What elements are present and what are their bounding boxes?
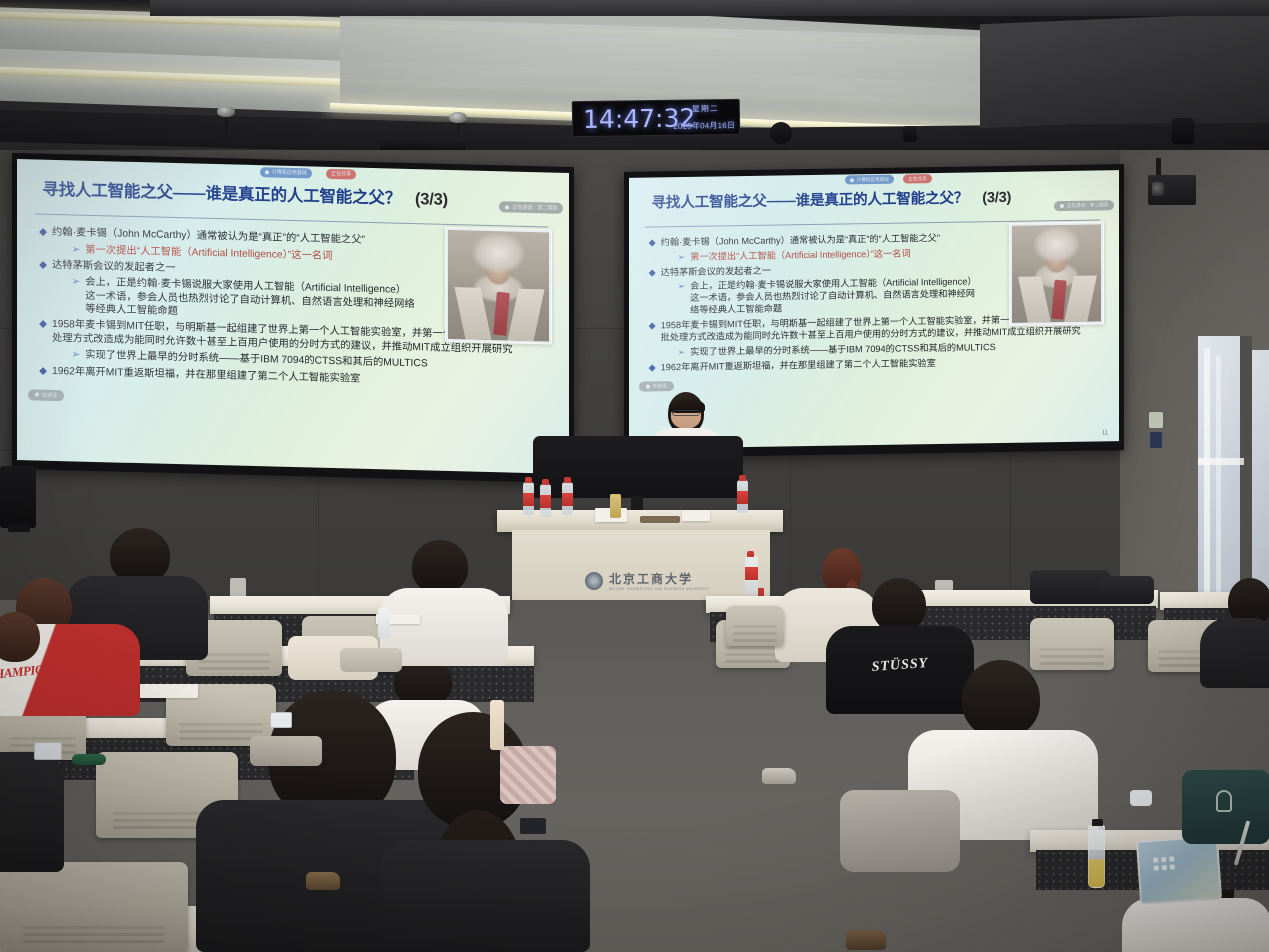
bullet-marker-diamond: ◆ xyxy=(649,321,656,333)
chair[interactable] xyxy=(726,606,784,646)
slide-page-indicator: (3/3) xyxy=(982,190,1011,206)
shoe xyxy=(306,872,340,890)
sharing-badge-label: 正在共享 xyxy=(908,176,926,182)
water-bottle xyxy=(523,482,534,515)
speaking-chip-secondary-label: 在讲话 xyxy=(653,383,667,389)
share-status-chip: 计算机应用基础 xyxy=(260,167,312,178)
list-item: ➢ 会上，正是约翰·麦卡锡说服大家使用人工智能（Artificial Intel… xyxy=(649,277,983,318)
slide-page-number: 11 xyxy=(1102,430,1108,436)
ceiling-projector xyxy=(1148,175,1196,205)
speaking-chip-secondary: 在讲话 xyxy=(28,389,64,401)
pencil-case xyxy=(72,754,106,765)
laptop-bag xyxy=(1100,576,1154,604)
lectern-papers xyxy=(682,510,710,521)
share-chip-label: 计算机应用基础 xyxy=(272,168,307,176)
student-body xyxy=(1122,898,1269,952)
tablet-device[interactable] xyxy=(1136,835,1222,905)
bullet-marker-diamond: ◆ xyxy=(649,267,656,279)
ceiling-sensor xyxy=(903,126,917,142)
slide-title-text: 寻找人工智能之父——谁是真正的人工智能之父？ xyxy=(42,180,401,207)
light-switch[interactable] xyxy=(230,578,246,598)
calculator[interactable] xyxy=(270,712,292,728)
tablet-screen[interactable] xyxy=(1138,837,1220,902)
water-bottle-clear xyxy=(1088,824,1105,888)
clock-date: 2025年04月16日 xyxy=(673,120,735,132)
wall-monitor-stand xyxy=(8,524,30,532)
jacket-brand-text: CHAMPION xyxy=(0,661,53,684)
bullet-marker-diamond: ◆ xyxy=(39,318,47,332)
bullet-marker-diamond: ◆ xyxy=(39,259,47,273)
bullet-marker-diamond: ◆ xyxy=(649,363,656,375)
ceiling-speaker-round xyxy=(770,122,792,144)
earbuds-case xyxy=(1130,790,1152,806)
ceiling-camera xyxy=(1172,118,1194,144)
bullet-text: 会上，正是约翰·麦卡锡说服大家使用人工智能（Artificial Intelli… xyxy=(85,276,415,324)
teal-backpack xyxy=(1182,770,1269,844)
seal-icon xyxy=(585,572,603,590)
bullet-marker-arrow: ➢ xyxy=(677,347,685,359)
share-chip-label: 计算机应用基础 xyxy=(857,177,889,184)
wall-monitor-left xyxy=(0,466,36,528)
student-tshirt: STÜSSY xyxy=(826,626,974,714)
water-bottle-small xyxy=(378,608,390,638)
lecture-hall-photo: 14:47:32 星期二 2025年04月16日 寻找人工智能之父——谁是真正的… xyxy=(0,0,1269,952)
bullet-text: 会上，正是约翰·麦卡锡说服大家使用人工智能（Artificial Intelli… xyxy=(690,277,982,317)
lectern-remote[interactable] xyxy=(640,516,680,523)
speaking-chip-label: 正在讲话：李二明同 xyxy=(512,204,557,212)
student-head xyxy=(412,540,468,594)
sneaker xyxy=(762,768,796,784)
speaking-chip-secondary: 在讲话 xyxy=(639,381,674,392)
bullet-marker-diamond: ◆ xyxy=(649,237,656,249)
water-bottle-aisle xyxy=(745,556,758,594)
student-trousers xyxy=(840,790,960,872)
student-head xyxy=(962,660,1040,738)
bullet-marker-diamond: ◆ xyxy=(39,364,47,378)
lightbulb-icon xyxy=(1216,790,1232,812)
jacket-on-chair xyxy=(250,736,322,766)
slide-title-right: 寻找人工智能之父——谁是真正的人工智能之父？(3/3) xyxy=(652,186,1012,213)
projection-screen-left: 寻找人工智能之父——谁是真正的人工智能之父？(3/3) ◆ 约翰·麦卡锡（Joh… xyxy=(12,153,574,483)
bullet-marker-arrow: ➢ xyxy=(677,252,685,264)
smartphone-dark[interactable] xyxy=(520,818,546,834)
university-name-en: BEIJING TECHNOLOGY AND BUSINESS UNIVERSI… xyxy=(609,587,710,591)
plaid-bag xyxy=(500,746,556,804)
sharing-badge: 正在共享 xyxy=(326,168,356,179)
slide-title-text: 寻找人工智能之父——谁是真正的人工智能之父？ xyxy=(652,191,969,212)
notebook-paper xyxy=(140,684,198,698)
exit-sign xyxy=(1149,412,1163,428)
water-bottle xyxy=(562,482,573,515)
university-name-cn: 北京工商大学 xyxy=(609,570,710,587)
portrait-john-mccarthy xyxy=(445,227,553,344)
speaking-chip: 正在讲话：李二明同 xyxy=(499,201,563,214)
bullet-marker-arrow: ➢ xyxy=(677,281,685,293)
digital-wall-clock: 14:47:32 星期二 2025年04月16日 xyxy=(572,99,740,137)
speaking-chip-label: 正在讲话：李二明同 xyxy=(1067,202,1108,209)
wall-panel-keypad[interactable] xyxy=(1150,432,1162,448)
list-item: ➢ 会上，正是约翰·麦卡锡说服大家使用人工智能（Artificial Intel… xyxy=(39,275,415,325)
bullet-marker-arrow: ➢ xyxy=(72,276,81,290)
clock-weekday: 星期二 xyxy=(692,103,719,114)
university-logo: 北京工商大学 BEIJING TECHNOLOGY AND BUSINESS U… xyxy=(585,570,710,591)
tshirt-brand-text: STÜSSY xyxy=(871,657,929,677)
jacket-on-chair xyxy=(340,648,402,672)
water-bottle xyxy=(737,480,748,513)
share-status-chip: 计算机应用基础 xyxy=(845,175,894,185)
chair[interactable] xyxy=(0,862,188,952)
backpack xyxy=(1030,570,1110,604)
bullet-marker-arrow: ➢ xyxy=(72,243,81,257)
portrait-image xyxy=(1012,225,1102,323)
slide-left: 寻找人工智能之父——谁是真正的人工智能之父？(3/3) ◆ 约翰·麦卡锡（Joh… xyxy=(17,159,569,474)
student-body xyxy=(0,752,64,872)
smartphone[interactable] xyxy=(34,742,62,760)
water-bottle xyxy=(540,484,551,517)
sharing-badge-label: 正在共享 xyxy=(331,170,351,178)
student-body xyxy=(380,840,590,952)
right-wall xyxy=(1120,150,1269,620)
speaking-chip: 正在讲话：李二明同 xyxy=(1054,200,1114,211)
speaking-chip-secondary-label: 在讲话 xyxy=(42,391,57,398)
lectern-marker[interactable] xyxy=(610,494,621,518)
chair[interactable] xyxy=(1030,618,1114,670)
shoe xyxy=(846,930,886,950)
bullet-marker-diamond: ◆ xyxy=(39,226,47,240)
presenter-glasses xyxy=(672,410,700,416)
thermos-tumbler xyxy=(490,700,504,750)
sharing-badge: 正在共享 xyxy=(903,174,931,183)
projector-lens xyxy=(1152,182,1164,196)
ceiling-speaker-dome xyxy=(449,112,467,123)
student-body xyxy=(1200,618,1269,688)
bullet-marker-arrow: ➢ xyxy=(72,349,81,363)
portrait-image xyxy=(448,230,550,341)
portrait-john-mccarthy xyxy=(1009,222,1105,326)
student-head xyxy=(872,578,926,632)
slide-page-indicator: (3/3) xyxy=(415,190,448,209)
ceiling-mic xyxy=(217,106,235,117)
slide-title-left: 寻找人工智能之父——谁是真正的人工智能之父？(3/3) xyxy=(42,175,448,209)
